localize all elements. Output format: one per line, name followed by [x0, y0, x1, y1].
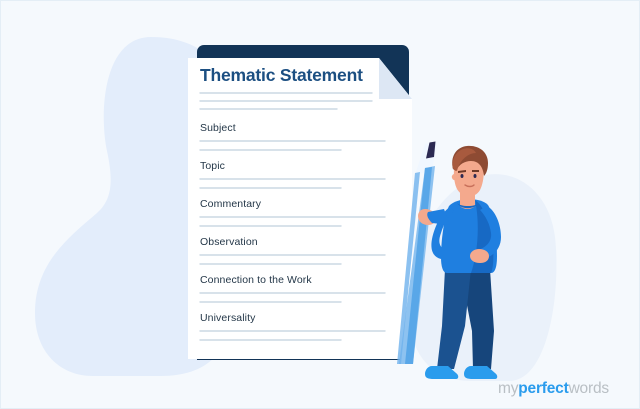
- field-label-topic: Topic: [200, 160, 225, 172]
- field-label-connection-to-the-work: Connection to the Work: [200, 274, 312, 286]
- field-label-observation: Observation: [200, 236, 258, 248]
- document-title: Thematic Statement: [200, 65, 363, 86]
- character-eyebrow-right: [472, 170, 479, 172]
- character-eye-left: [461, 174, 464, 178]
- illustration-canvas: Thematic Statement Subject Topic Comment…: [0, 0, 640, 409]
- field-label-universality: Universality: [200, 312, 255, 324]
- character-eye-right: [474, 174, 477, 178]
- illustration-artwork: [1, 1, 640, 409]
- field-label-subject: Subject: [200, 122, 236, 134]
- brand-logo-words: words: [569, 380, 609, 397]
- brand-logo-my: my: [498, 380, 518, 397]
- brand-logo-perfect: perfect: [518, 380, 568, 397]
- field-label-commentary: Commentary: [200, 198, 261, 210]
- brand-logo: myperfectwords: [498, 380, 609, 398]
- character-ear: [452, 174, 458, 180]
- character-hand-hip: [470, 249, 489, 263]
